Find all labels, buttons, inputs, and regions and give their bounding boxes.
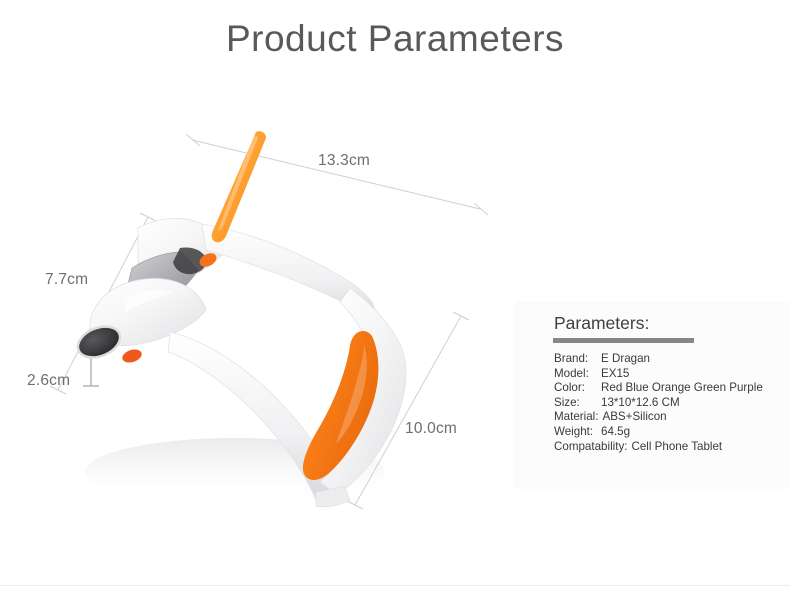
parameter-row-color: Color: Red Blue Orange Green Purple [554, 381, 790, 396]
product-illustration [20, 120, 500, 540]
parameter-row-weight: Weight: 64.5g [554, 425, 790, 440]
parameter-key-color: Color: [554, 381, 601, 396]
parameter-value-material: ABS+Silicon [602, 410, 666, 425]
parameter-row-model: Model: EX15 [554, 367, 790, 382]
parameter-row-material: Material: ABS+Silicon [554, 410, 790, 425]
dimension-label-length: 10.0cm [405, 420, 457, 438]
parameter-key-brand: Brand: [554, 352, 601, 367]
parameter-row-brand: Brand: E Dragan [554, 352, 790, 367]
parameters-heading: Parameters: [554, 313, 649, 334]
product-image [20, 120, 500, 540]
parameter-row-size: Size: 13*10*12.6 CM [554, 396, 790, 411]
parameter-value-model: EX15 [601, 367, 629, 382]
parameters-panel: Parameters: Brand: E Dragan Model: EX15 … [516, 303, 790, 488]
dimension-label-height: 7.7cm [45, 271, 88, 289]
parameter-value-weight: 64.5g [601, 425, 630, 440]
parameter-value-color: Red Blue Orange Green Purple [601, 381, 763, 396]
parameter-value-size: 13*10*12.6 CM [601, 396, 680, 411]
parameters-heading-rule [553, 338, 694, 343]
parameter-key-material: Material: [554, 410, 598, 425]
silicone-pad-upper-highlight [218, 136, 258, 230]
dimension-label-depth: 2.6cm [27, 372, 70, 390]
bottom-divider [0, 585, 790, 586]
parameter-value-brand: E Dragan [601, 352, 650, 367]
parameter-key-size: Size: [554, 396, 601, 411]
parameters-list: Brand: E Dragan Model: EX15 Color: Red B… [554, 352, 790, 454]
parameter-value-compatability: Cell Phone Tablet [631, 440, 722, 455]
parameter-key-compatability: Compatability: [554, 440, 627, 455]
dimension-label-width: 13.3cm [318, 152, 370, 170]
product-parameters-page: Product Parameters [0, 0, 790, 604]
accent-button-front [121, 347, 144, 365]
parameter-key-model: Model: [554, 367, 601, 382]
page-title: Product Parameters [0, 18, 790, 60]
parameter-row-compatability: Compatability: Cell Phone Tablet [554, 440, 790, 455]
parameter-key-weight: Weight: [554, 425, 601, 440]
